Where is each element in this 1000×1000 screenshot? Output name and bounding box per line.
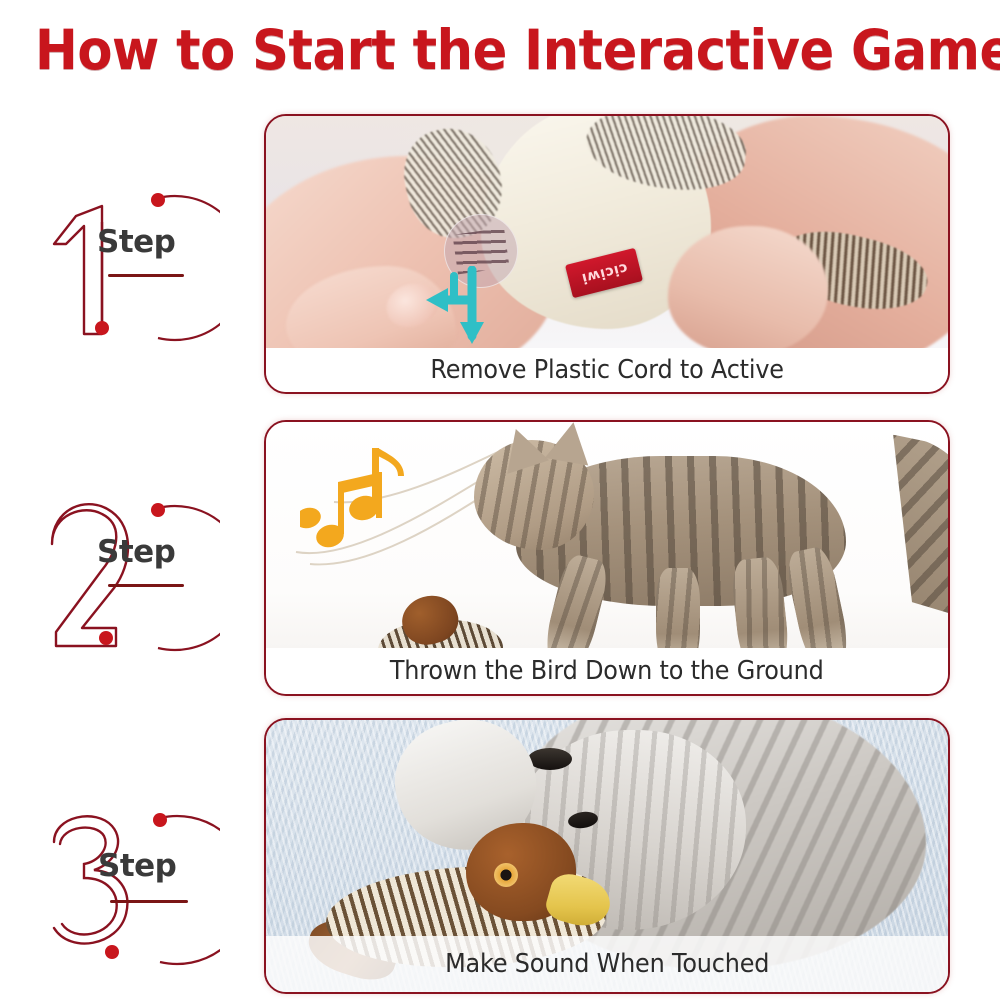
step-panel-1[interactable]: ciciwi Remove Plastic Cord to Active xyxy=(264,114,950,394)
step-3-caption: Make Sound When Touched xyxy=(445,949,769,979)
brand-tag-label: ciciwi xyxy=(579,260,628,287)
step-2-rule xyxy=(108,584,184,587)
step-1-label: Step xyxy=(97,224,175,260)
music-note-icon xyxy=(300,442,440,562)
step-3-rule xyxy=(110,900,188,903)
step-badge-3: Step xyxy=(40,800,220,970)
pull-arrow-icon xyxy=(414,266,534,348)
step-1-caption-bar: Remove Plastic Cord to Active xyxy=(266,348,948,392)
cat-ear xyxy=(495,422,549,474)
step-2-caption: Thrown the Bird Down to the Ground xyxy=(390,656,824,686)
cat-leg xyxy=(656,568,700,648)
step-2-caption-bar: Thrown the Bird Down to the Ground xyxy=(266,648,948,694)
cat-head xyxy=(474,440,594,550)
step-1-photo: ciciwi xyxy=(266,116,948,348)
step-3-label: Step xyxy=(98,848,176,884)
step-badge-2: Step xyxy=(40,492,220,662)
step-panel-2[interactable]: Thrown the Bird Down to the Ground xyxy=(264,420,950,696)
thumb-right xyxy=(668,226,828,348)
bird-eye xyxy=(494,863,518,887)
step-1-graphic xyxy=(40,182,220,352)
step-panel-3[interactable]: Make Sound When Touched xyxy=(264,718,950,994)
step-2-label: Step xyxy=(97,534,175,570)
step-badge-1: Step xyxy=(40,182,220,352)
step-2-graphic xyxy=(40,492,220,662)
cat-tail xyxy=(825,428,948,617)
step-3-graphic xyxy=(40,800,220,975)
step-1-caption: Remove Plastic Cord to Active xyxy=(430,355,783,385)
page-title: How to Start the Interactive Game xyxy=(35,22,965,80)
cat-eye xyxy=(528,748,572,770)
step-2-photo xyxy=(266,422,948,648)
step-3-caption-bar: Make Sound When Touched xyxy=(266,936,948,992)
cat-illustration xyxy=(456,428,926,648)
cat-ear xyxy=(545,422,595,466)
cat-hind-leg xyxy=(783,545,855,648)
bird-toy xyxy=(378,594,508,648)
step-1-rule xyxy=(108,274,184,277)
